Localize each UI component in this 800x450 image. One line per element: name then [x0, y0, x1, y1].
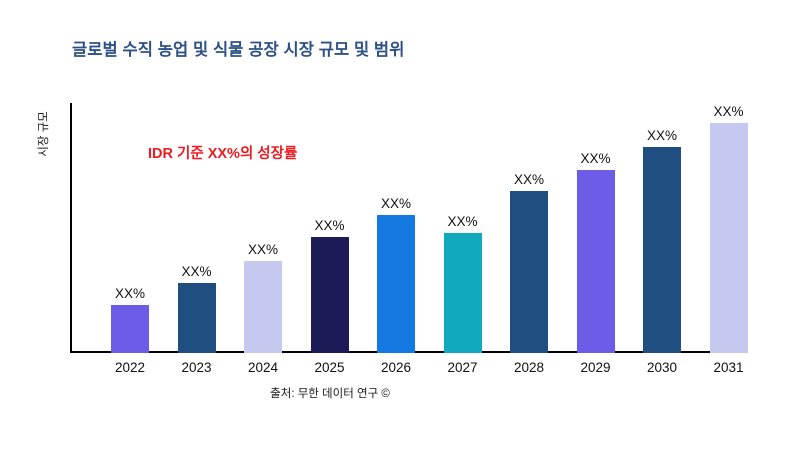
bar-value-label: XX%: [169, 264, 225, 279]
bar-group: XX%: [568, 95, 624, 353]
source-note: 출처: 무한 데이터 연구 ©: [0, 385, 660, 401]
bar-group: XX%: [235, 95, 291, 353]
bar-2030[interactable]: [643, 147, 681, 353]
bar-group: XX%: [634, 95, 690, 353]
bar-group: XX%: [501, 95, 557, 353]
bar-group: XX%: [102, 95, 158, 353]
x-tick-2023: 2023: [169, 360, 225, 375]
bar-group: XX%: [435, 95, 491, 353]
bar-value-label: XX%: [634, 128, 690, 143]
bar-value-label: XX%: [368, 196, 424, 211]
chart-title: 글로벌 수직 농업 및 식물 공장 시장 규모 및 범위: [72, 36, 404, 60]
bar-value-label: XX%: [701, 104, 757, 119]
x-tick-2025: 2025: [302, 360, 358, 375]
x-tick-2022: 2022: [102, 360, 158, 375]
bar-value-label: XX%: [568, 151, 624, 166]
x-tick-2030: 2030: [634, 360, 690, 375]
bar-2024[interactable]: [244, 261, 282, 353]
bar-value-label: XX%: [435, 214, 491, 229]
bar-value-label: XX%: [102, 286, 158, 301]
bar-value-label: XX%: [235, 242, 291, 257]
bar-2029[interactable]: [577, 170, 615, 353]
bar-value-label: XX%: [302, 218, 358, 233]
bar-value-label: XX%: [501, 172, 557, 187]
bar-group: XX%: [368, 95, 424, 353]
x-tick-2031: 2031: [701, 360, 757, 375]
bar-2022[interactable]: [111, 305, 149, 353]
bar-2023[interactable]: [178, 283, 216, 353]
bar-group: XX%: [701, 95, 757, 353]
bar-2025[interactable]: [311, 237, 349, 353]
bar-group: XX%: [169, 95, 225, 353]
bar-2027[interactable]: [444, 233, 482, 353]
bar-group: XX%: [302, 95, 358, 353]
x-tick-2028: 2028: [501, 360, 557, 375]
bar-2028[interactable]: [510, 191, 548, 353]
bar-2026[interactable]: [377, 215, 415, 353]
y-axis-label: 시장 규모: [35, 89, 51, 179]
x-tick-2026: 2026: [368, 360, 424, 375]
x-tick-2027: 2027: [435, 360, 491, 375]
bar-chart: 글로벌 수직 농업 및 식물 공장 시장 규모 및 범위 IDR 기준 XX%의…: [0, 0, 800, 450]
x-tick-2024: 2024: [235, 360, 291, 375]
plot-area: XX%XX%XX%XX%XX%XX%XX%XX%XX%XX%: [70, 95, 800, 353]
bar-2031[interactable]: [710, 123, 748, 353]
x-tick-2029: 2029: [568, 360, 624, 375]
